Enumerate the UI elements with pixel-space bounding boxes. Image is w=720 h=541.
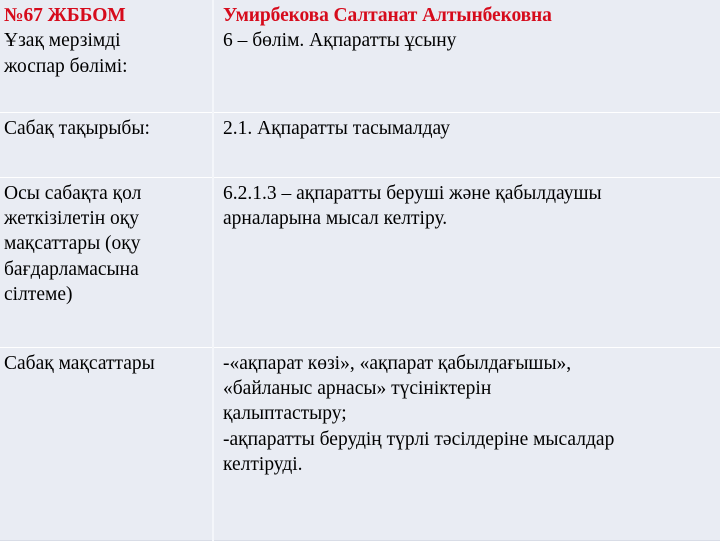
lesson-objectives-label-cell: Сабақ мақсаттары	[0, 347, 213, 540]
lesson-objectives-value-cell: -«ақпарат көзі», «ақпарат қабылдағышы», …	[213, 347, 720, 540]
school-name-title: №67 ЖББОМ	[4, 3, 204, 28]
table-row: Сабақ тақырыбы: 2.1. Ақпаратты тасымалда…	[0, 112, 720, 177]
table-row: Сабақ мақсаттары -«ақпарат көзі», «ақпар…	[0, 347, 720, 540]
teacher-and-section-value-cell: Умирбекова Салтанат Алтынбековна 6 – бөл…	[213, 0, 720, 112]
learning-goals-value: 6.2.1.3 – ақпаратты беруші және қабылдау…	[223, 183, 602, 229]
table-row: №67 ЖББОМ Ұзақ мерзімді жоспар бөлімі: У…	[0, 0, 720, 112]
lesson-plan-table: №67 ЖББОМ Ұзақ мерзімді жоспар бөлімі: У…	[0, 0, 720, 541]
lesson-plan-sheet: №67 ЖББОМ Ұзақ мерзімді жоспар бөлімі: У…	[0, 0, 720, 540]
learning-goals-label: Осы сабақта қол жеткізілетін оқу мақсатт…	[4, 183, 141, 305]
learning-goals-value-cell: 6.2.1.3 – ақпаратты беруші және қабылдау…	[213, 177, 720, 347]
lesson-topic-value: 2.1. Ақпаратты тасымалдау	[223, 118, 450, 139]
lesson-topic-label: Сабақ тақырыбы:	[4, 118, 150, 139]
learning-goals-label-cell: Осы сабақта қол жеткізілетін оқу мақсатт…	[0, 177, 213, 347]
teacher-name-title: Умирбекова Салтанат Алтынбековна	[223, 3, 712, 28]
table-row: Осы сабақта қол жеткізілетін оқу мақсатт…	[0, 177, 720, 347]
lesson-objectives-label: Сабақ мақсаттары	[4, 353, 155, 374]
school-and-longterm-plan-label-cell: №67 ЖББОМ Ұзақ мерзімді жоспар бөлімі:	[0, 0, 213, 112]
longterm-plan-section-label: Ұзақ мерзімді жоспар бөлімі:	[4, 28, 204, 79]
lesson-topic-value-cell: 2.1. Ақпаратты тасымалдау	[213, 112, 720, 177]
longterm-plan-section-value: 6 – бөлім. Ақпаратты ұсыну	[223, 28, 712, 53]
lesson-topic-label-cell: Сабақ тақырыбы:	[0, 112, 213, 177]
lesson-objectives-value: -«ақпарат көзі», «ақпарат қабылдағышы», …	[223, 353, 614, 475]
